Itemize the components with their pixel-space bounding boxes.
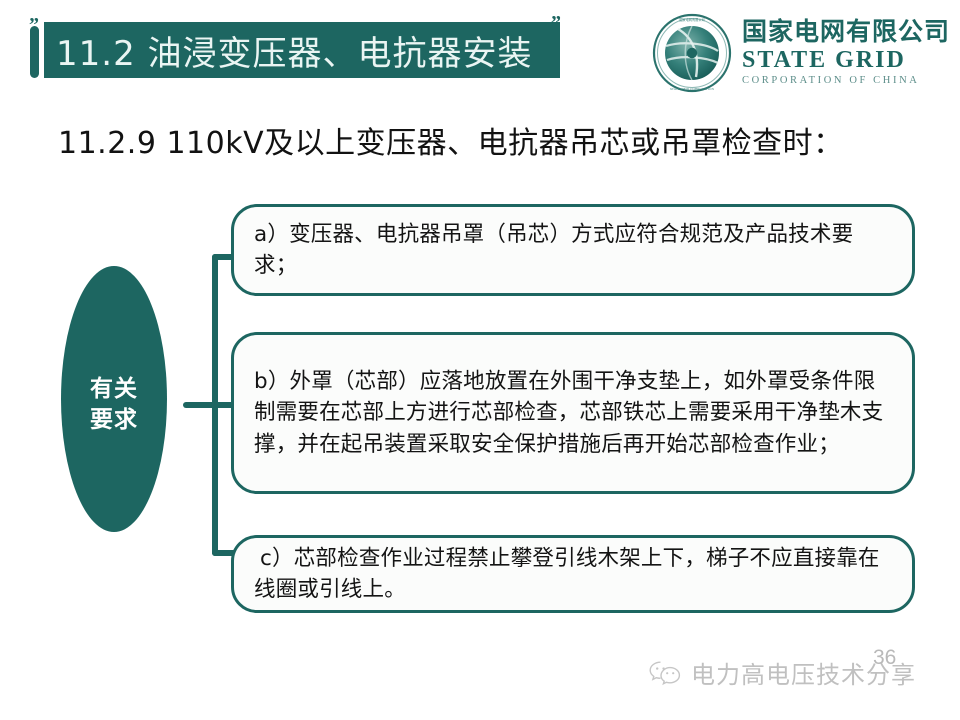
footer-watermark: 电力高电压技术分享 <box>648 655 916 690</box>
logo-wordmark: 国家电网有限公司 STATE GRID CORPORATION OF CHINA <box>742 19 950 87</box>
logo-english-name: STATE GRID <box>742 48 950 72</box>
logo-english-subtitle: CORPORATION OF CHINA <box>742 76 950 87</box>
requirement-box-a[interactable]: a）变压器、电抗器吊罩（吊芯）方式应符合规范及产品技术要求； <box>231 204 915 296</box>
requirement-text-a: a）变压器、电抗器吊罩（吊芯）方式应符合规范及产品技术要求； <box>254 219 890 282</box>
diagram-root-node-label-line1: 有关 <box>90 376 138 402</box>
slide-title-bar: 11.2 油浸变压器、电抗器安装 <box>44 22 560 78</box>
diagram-root-node: 有关 要求 <box>61 266 167 532</box>
state-grid-logo: 国家电网有限公司 STATE GRID CORPORATION 国家电网有限公司… <box>652 10 952 96</box>
quote-mark-right-icon: ” <box>551 13 561 33</box>
diagram-root-node-label: 有关 要求 <box>90 374 138 436</box>
slide-canvas: ” 11.2 油浸变压器、电抗器安装 ” <box>0 0 960 720</box>
state-grid-globe-emblem-icon: 国家电网有限公司 STATE GRID CORPORATION <box>652 13 732 93</box>
requirement-text-b: b）外罩（芯部）应落地放置在外围干净支垫上，如外罩受条件限制需要在芯部上方进行芯… <box>254 366 890 460</box>
svg-text:STATE GRID CORPORATION: STATE GRID CORPORATION <box>670 87 715 91</box>
svg-text:国家电网有限公司: 国家电网有限公司 <box>679 17 705 22</box>
requirement-box-c[interactable]: c）芯部检查作业过程禁止攀登引线木架上下，梯子不应直接靠在线圈或引线上。 <box>231 535 915 613</box>
requirement-text-c: c）芯部检查作业过程禁止攀登引线木架上下，梯子不应直接靠在线圈或引线上。 <box>254 543 890 606</box>
wechat-icon <box>648 659 682 687</box>
title-accent-bar <box>30 26 39 78</box>
diagram-root-node-label-line2: 要求 <box>90 407 138 433</box>
requirement-box-b[interactable]: b）外罩（芯部）应落地放置在外围干净支垫上，如外罩受条件限制需要在芯部上方进行芯… <box>231 332 915 494</box>
logo-chinese-name: 国家电网有限公司 <box>742 19 950 44</box>
watermark-text: 电力高电压技术分享 <box>691 655 916 690</box>
section-subtitle: 11.2.9 110kV及以上变压器、电抗器吊芯或吊罩检查时： <box>58 118 938 162</box>
page-title: 11.2 油浸变压器、电抗器安装 <box>56 26 533 75</box>
